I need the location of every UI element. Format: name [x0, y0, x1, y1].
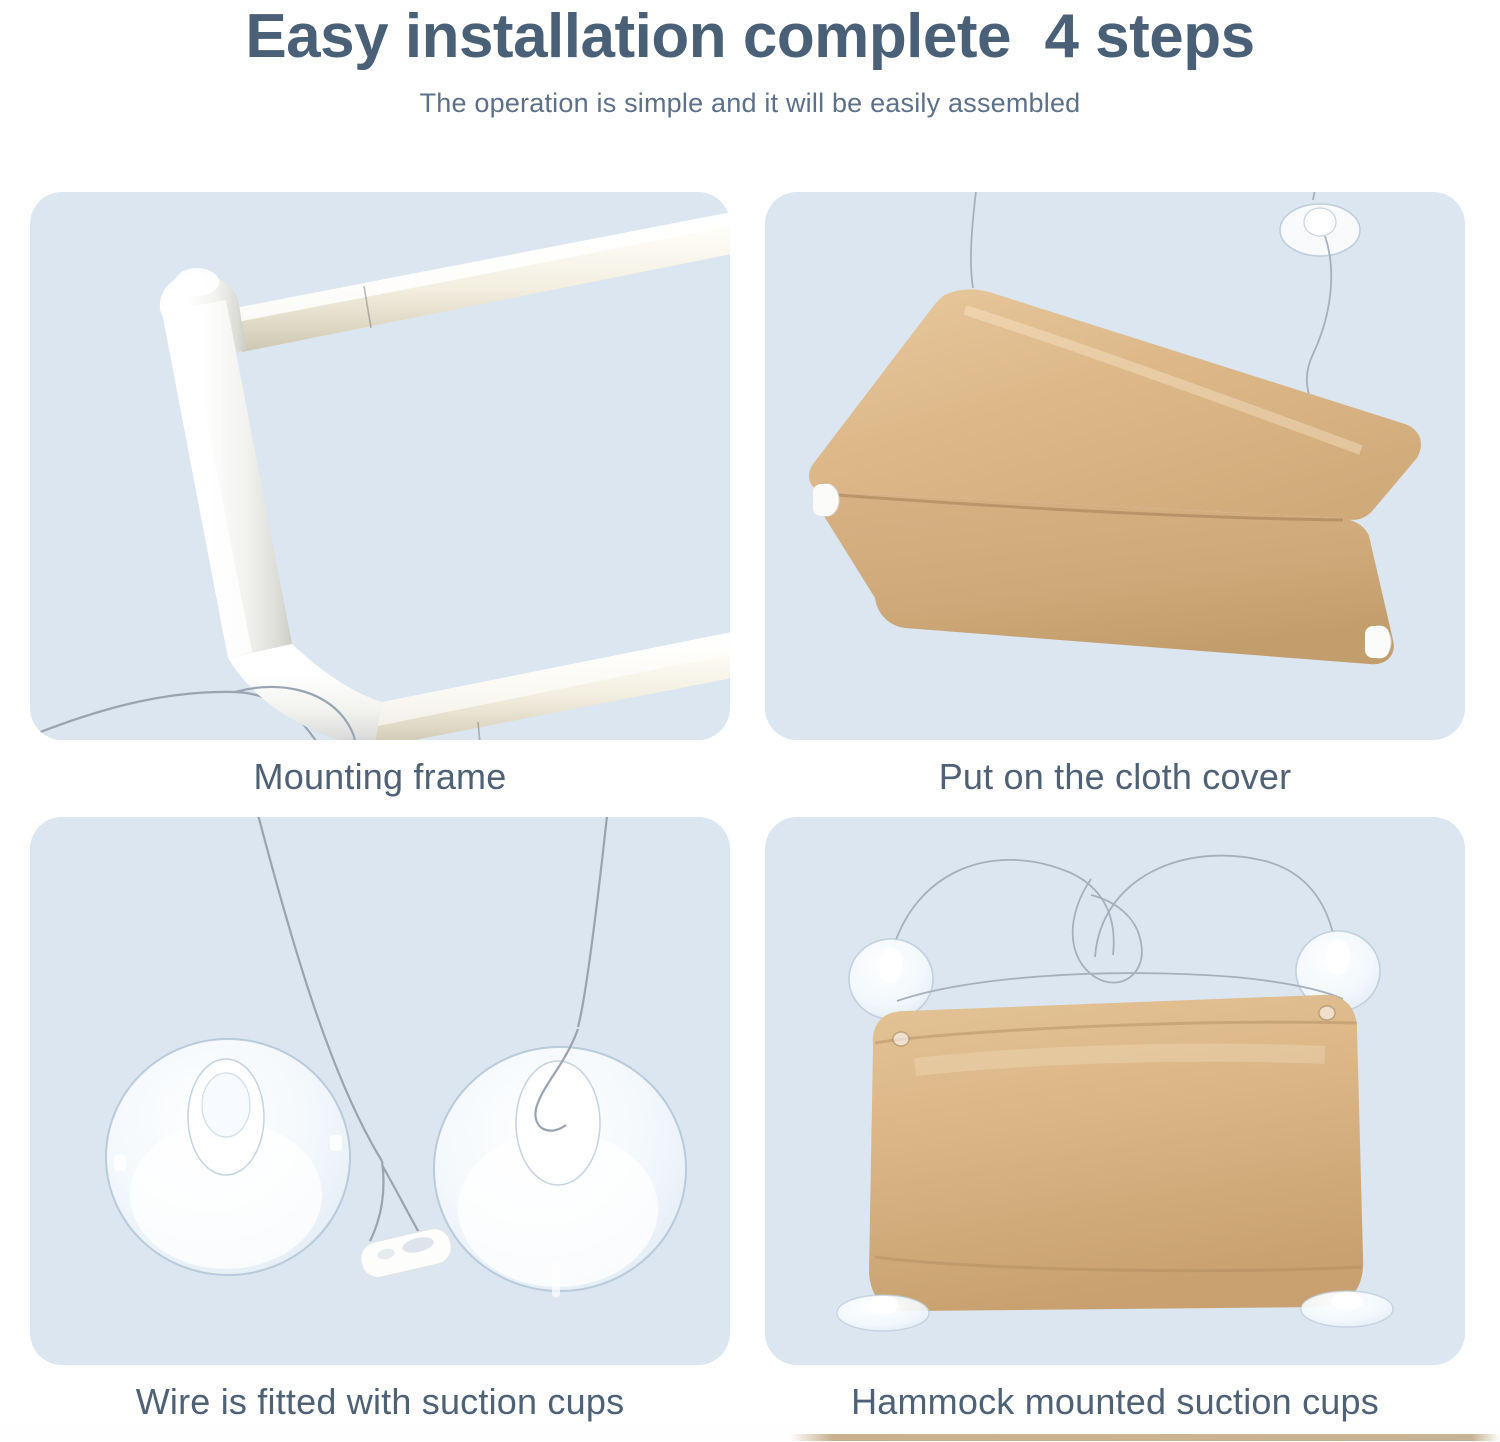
- tube-end-left: [813, 484, 839, 516]
- suction-cups-wire-illustration: [30, 817, 730, 1365]
- wire-to-clip: [370, 1161, 384, 1241]
- suction-cup-bottom-left: [837, 1295, 929, 1331]
- frame-left-tube: [162, 300, 292, 658]
- wire-arc-left: [891, 860, 1114, 955]
- step-2-photo: [765, 192, 1465, 740]
- step-4-caption: Hammock mounted suction cups: [765, 1381, 1465, 1423]
- hammock-mounted-illustration: [765, 817, 1465, 1365]
- step-1-photo: [30, 192, 730, 740]
- mounting-frame-illustration: [30, 192, 730, 740]
- frame-top-tube: [235, 212, 730, 352]
- step-3-caption: Wire is fitted with suction cups: [30, 1381, 730, 1423]
- header: Easy installation complete 4 steps The o…: [0, 0, 1500, 119]
- cloth-cover-upper: [809, 289, 1421, 520]
- step-2-caption: Put on the cloth cover: [765, 756, 1465, 798]
- step-card-1: Mounting frame: [30, 192, 735, 817]
- eyelet-left: [893, 1032, 909, 1046]
- hanging-wire-left: [971, 192, 977, 288]
- wire-clip: [357, 1225, 455, 1281]
- wire-arc-right: [1095, 856, 1335, 957]
- cloth-cover-lower: [819, 492, 1394, 664]
- page-subtitle: The operation is simple and it will be e…: [0, 88, 1500, 119]
- tube-end-right: [1365, 626, 1391, 658]
- step-card-2: Put on the cloth cover: [765, 192, 1470, 817]
- suction-cup-left: [106, 1039, 350, 1275]
- wire-center-loop: [1073, 879, 1142, 983]
- wire-right-strand: [578, 817, 608, 1027]
- step-4-photo: [765, 817, 1465, 1365]
- cloth-cover-illustration: [765, 192, 1465, 740]
- bottom-image-sliver: [0, 1425, 1500, 1441]
- eyelet-right: [1319, 1006, 1335, 1020]
- steps-grid: Mounting frame: [0, 192, 1500, 1442]
- suction-cup-top-left: [849, 939, 933, 1019]
- frame-bottom-tube: [374, 632, 730, 740]
- step-card-4: Hammock mounted suction cups: [765, 817, 1470, 1442]
- suction-cup-right: [434, 1029, 686, 1297]
- step-3-photo: [30, 817, 730, 1365]
- page-title: Easy installation complete 4 steps: [0, 4, 1500, 71]
- tan-strip: [790, 1434, 1500, 1441]
- step-card-3: Wire is fitted with suction cups: [30, 817, 735, 1442]
- suction-cup-bottom-right: [1301, 1291, 1393, 1327]
- step-1-caption: Mounting frame: [30, 756, 730, 798]
